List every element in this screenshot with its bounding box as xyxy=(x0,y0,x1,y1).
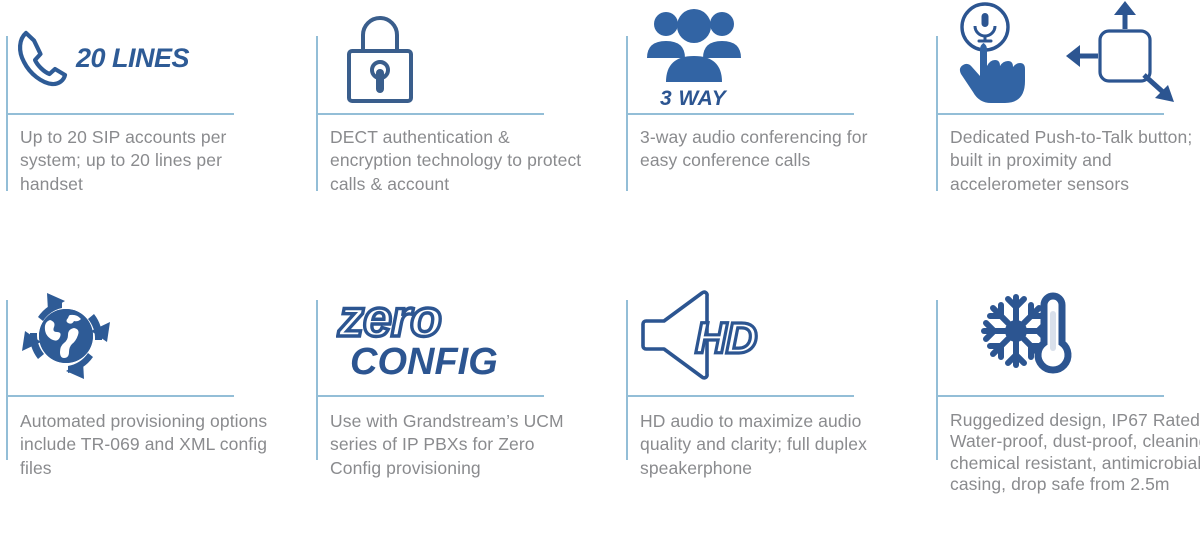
horizontal-rule xyxy=(6,113,234,115)
svg-text:3 WAY: 3 WAY xyxy=(660,87,728,110)
horizontal-rule xyxy=(936,395,1164,397)
three-people-icon: 3 WAY xyxy=(634,4,884,112)
push-to-talk-hand-icon xyxy=(948,4,1198,112)
feature-caption: Up to 20 SIP accounts per system; up to … xyxy=(20,126,272,196)
feature-caption: Dedicated Push-to-Talk button; built in … xyxy=(950,126,1200,196)
horizontal-rule xyxy=(316,113,544,115)
feature-caption: Automated provisioning options include T… xyxy=(20,410,272,480)
zero-wordmark-bottom: CONFIG xyxy=(350,341,498,383)
feature-card-security: DECT authentication & encryption technol… xyxy=(310,0,620,270)
zero-config-wordmark-icon: zero CONFIG xyxy=(336,278,586,392)
feature-card-conference: 3 WAY 3-way audio conferencing for easy … xyxy=(620,0,930,270)
globe-sync-icon xyxy=(14,278,264,392)
feature-caption: 3-way audio conferencing for easy confer… xyxy=(640,126,892,173)
horizontal-rule xyxy=(626,113,854,115)
phone-handset-icon: 20 LINES xyxy=(14,4,264,112)
feature-grid: 20 LINES Up to 20 SIP accounts per syste… xyxy=(0,0,1200,540)
feature-caption: Ruggedized design, IP67 Rated-Water-proo… xyxy=(950,410,1200,495)
zero-wordmark-top: zero xyxy=(337,290,441,348)
horizontal-rule xyxy=(6,395,234,397)
horizontal-rule xyxy=(936,113,1164,115)
feature-card-provisioning: Automated provisioning options include T… xyxy=(0,270,310,540)
hd-speaker-icon: HD xyxy=(640,278,890,392)
horizontal-rule xyxy=(626,395,854,397)
vertical-rule xyxy=(6,300,8,460)
feature-card-rugged: Ruggedized design, IP67 Rated-Water-proo… xyxy=(930,270,1200,540)
feature-caption: DECT authentication & encryption technol… xyxy=(330,126,582,196)
hd-badge-text: HD xyxy=(695,314,757,363)
feature-card-push-to-talk: Dedicated Push-to-Talk button; built in … xyxy=(930,0,1200,270)
vertical-rule xyxy=(316,300,318,460)
feature-card-zero-config: zero CONFIG Use with Grandstream’s UCM s… xyxy=(310,270,620,540)
feature-card-hd-audio: HD HD audio to maximize audio quality an… xyxy=(620,270,930,540)
vertical-rule xyxy=(626,300,628,460)
horizontal-rule xyxy=(316,395,544,397)
feature-caption: HD audio to maximize audio quality and c… xyxy=(640,410,892,480)
feature-caption: Use with Grandstream’s UCM series of IP … xyxy=(330,410,582,480)
lines-badge-text: 20 LINES xyxy=(76,43,189,74)
vertical-rule xyxy=(936,300,938,460)
feature-card-lines: 20 LINES Up to 20 SIP accounts per syste… xyxy=(0,0,310,270)
padlock-icon xyxy=(324,4,574,112)
snowflake-thermometer-icon xyxy=(972,278,1200,392)
